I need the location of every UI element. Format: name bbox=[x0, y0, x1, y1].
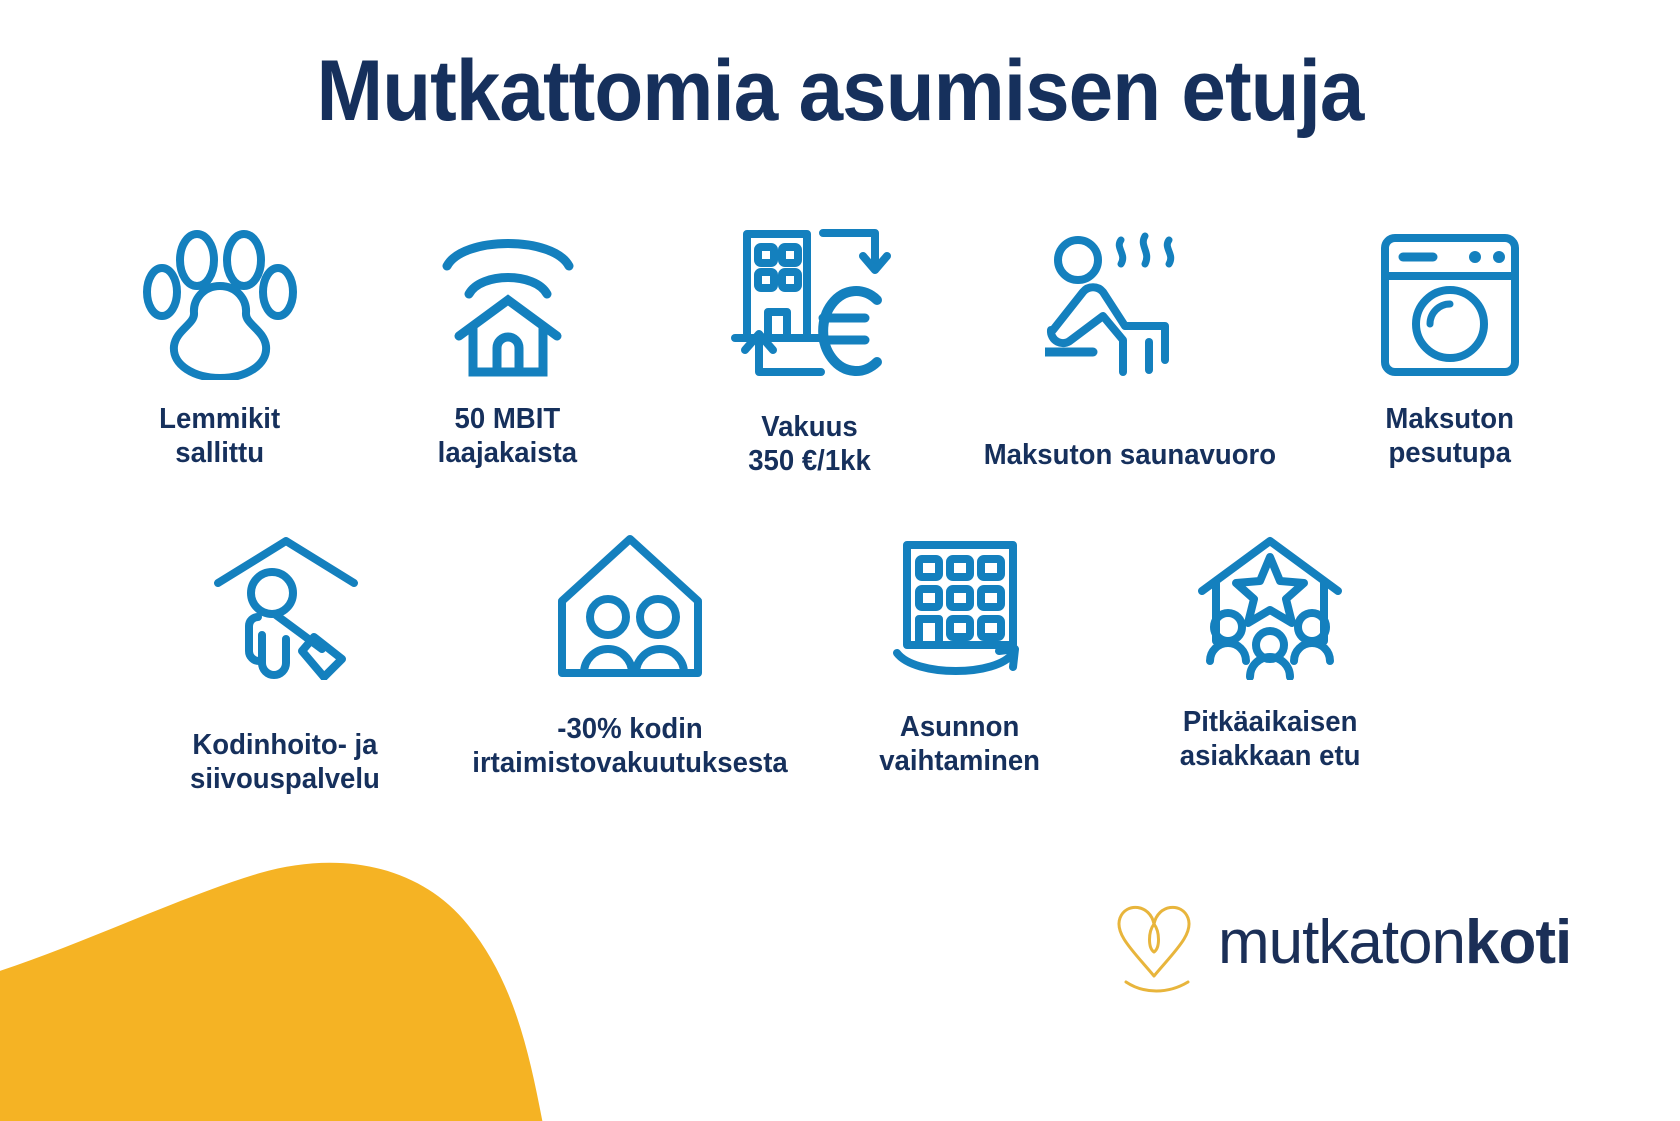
benefit-label: Asunnon vaihtaminen bbox=[880, 710, 1041, 778]
benefit-item-insurance: -30% kodin irtaimistovakuutuksesta bbox=[450, 520, 810, 780]
icon-container bbox=[550, 520, 710, 680]
benefit-item-laundry: Maksuton pesutupa bbox=[1305, 205, 1595, 470]
house-star-loyalty-icon bbox=[1190, 535, 1350, 680]
benefit-item-sauna: Maksuton saunavuoro bbox=[965, 205, 1295, 472]
wifi-house-icon bbox=[433, 220, 583, 380]
benefit-item-pets: Lemmikit sallittu bbox=[85, 205, 355, 470]
benefit-label: 50 MBIT laajakaista bbox=[438, 402, 577, 470]
house-family-insurance-icon bbox=[550, 535, 710, 680]
icon-container bbox=[885, 520, 1035, 680]
benefit-label: Lemmikit sallittu bbox=[160, 402, 281, 470]
apartment-swap-icon bbox=[885, 535, 1035, 680]
benefit-item-cleaning: Kodinhoito- ja siivouspalvelu bbox=[130, 520, 440, 796]
benefit-label: Pitkäaikaisen asiakkaan etu bbox=[1180, 705, 1361, 773]
building-euro-exchange-icon bbox=[725, 220, 895, 380]
icon-container bbox=[140, 205, 300, 380]
icon-container bbox=[1045, 205, 1215, 380]
benefit-item-deposit: Vakuus 350 €/1kk bbox=[665, 205, 955, 478]
logo-wordmark: mutkatonkoti bbox=[1218, 907, 1571, 978]
brand-logo[interactable]: mutkatonkoti bbox=[1110, 890, 1571, 995]
washing-machine-icon bbox=[1375, 230, 1525, 380]
cleaning-person-roof-icon bbox=[210, 535, 360, 680]
benefit-label: -30% kodin irtaimistovakuutuksesta bbox=[472, 712, 787, 780]
icon-container bbox=[1375, 205, 1525, 380]
heart-swirl-icon bbox=[1110, 890, 1200, 995]
icon-container bbox=[725, 205, 895, 380]
icon-container bbox=[210, 520, 360, 680]
yellow-decorative-blob bbox=[0, 805, 590, 1121]
paw-print-icon bbox=[140, 220, 300, 380]
benefit-label: Maksuton pesutupa bbox=[1386, 402, 1515, 470]
logo-word-light: mutkaton bbox=[1218, 908, 1465, 977]
page-title: Mutkattomia asumisen etuja bbox=[59, 42, 1621, 141]
benefit-label: Kodinhoito- ja siivouspalvelu bbox=[190, 728, 380, 796]
logo-word-bold: koti bbox=[1465, 908, 1571, 977]
sauna-person-steam-icon bbox=[1045, 230, 1215, 380]
benefits-row-1: Lemmikit sallittu 50 MBIT laajakaista bbox=[60, 205, 1620, 478]
benefits-row-2: Kodinhoito- ja siivouspalvelu -30% kodin… bbox=[110, 520, 1440, 796]
infographic-page: Mutkattomia asumisen etuja Lemmikit sall… bbox=[0, 0, 1680, 1121]
benefit-item-loyalty: Pitkäaikaisen asiakkaan etu bbox=[1120, 520, 1420, 773]
benefit-label: Maksuton saunavuoro bbox=[984, 438, 1276, 472]
icon-container bbox=[1190, 520, 1350, 680]
benefit-item-apartment-swap: Asunnon vaihtaminen bbox=[820, 520, 1100, 778]
benefit-item-broadband: 50 MBIT laajakaista bbox=[370, 205, 645, 470]
icon-container bbox=[433, 205, 583, 380]
benefit-label: Vakuus 350 €/1kk bbox=[749, 410, 872, 478]
